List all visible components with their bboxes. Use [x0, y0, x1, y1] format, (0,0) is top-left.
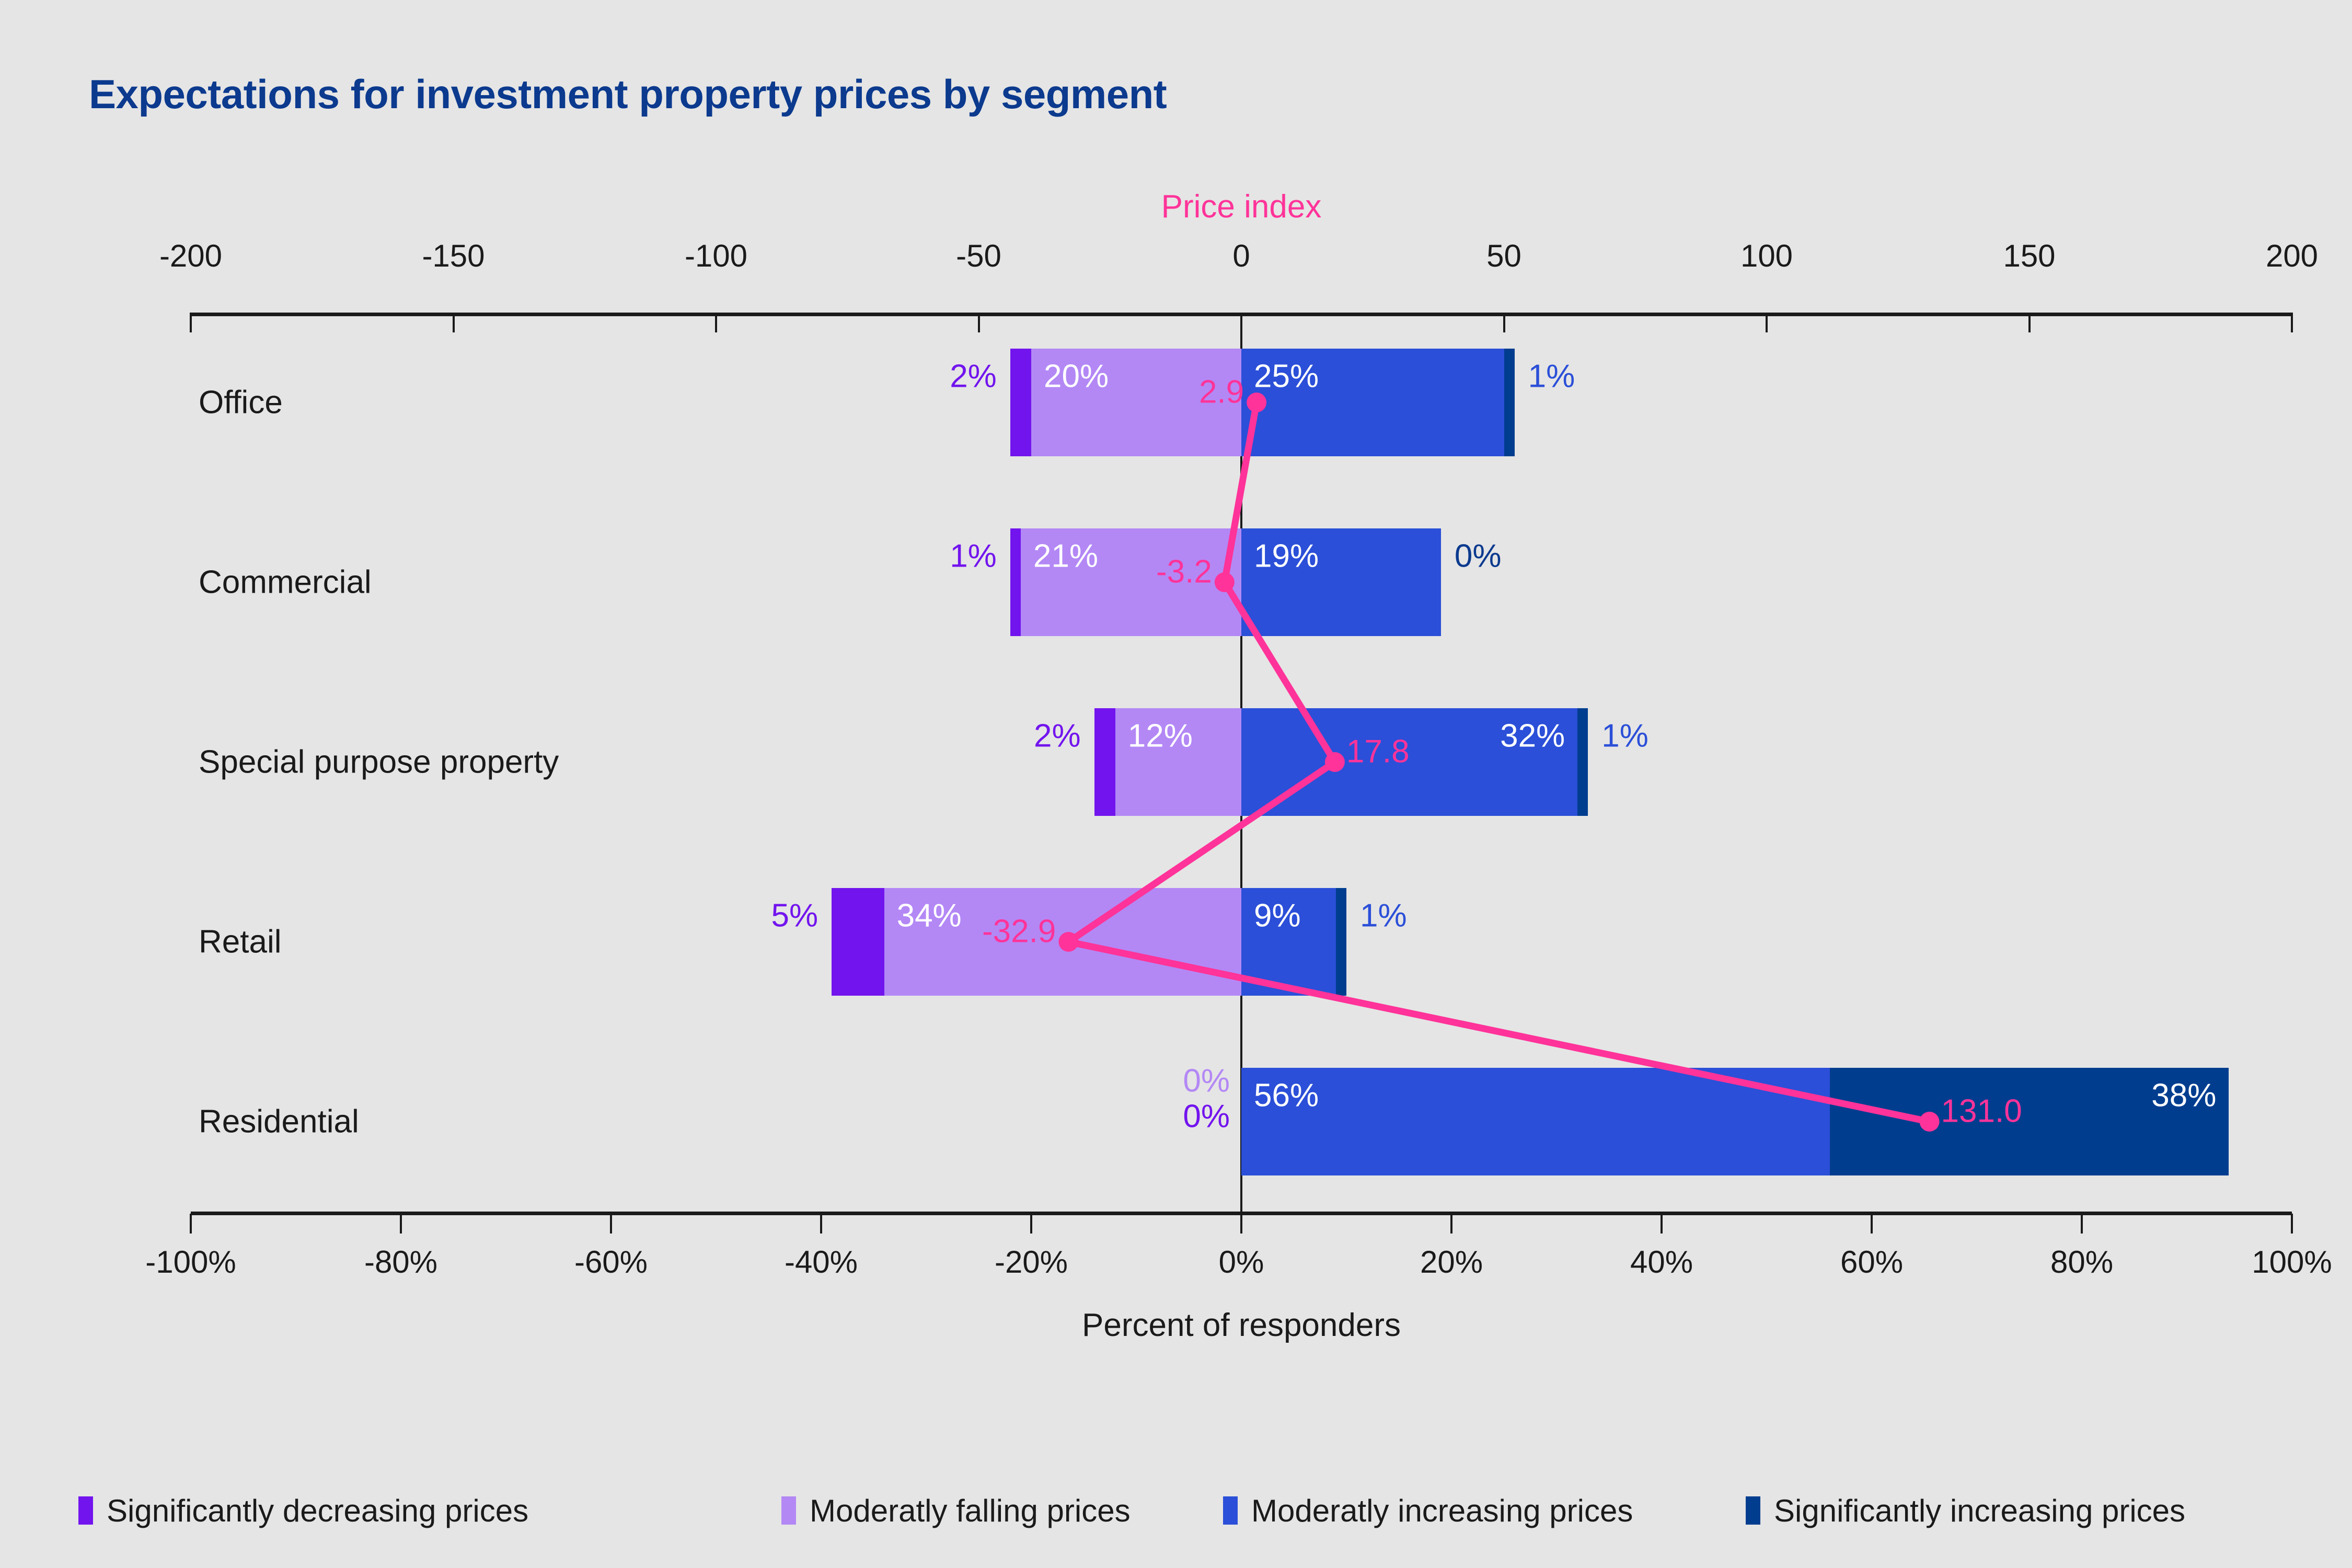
- axis-tick-label: 80%: [2050, 1244, 2113, 1280]
- axis-tick-label: -80%: [364, 1244, 437, 1280]
- bar-segment[interactable]: [1577, 708, 1588, 816]
- axis-tick: [820, 1214, 822, 1233]
- segment-label-significantly-increasing: 1%: [1360, 897, 1407, 935]
- axis-tick-label: -100: [685, 238, 747, 274]
- legend-item[interactable]: Significantly increasing prices: [1746, 1492, 2185, 1529]
- legend-swatch-icon: [1746, 1496, 1760, 1525]
- bar-segment[interactable]: [1241, 1068, 1830, 1175]
- legend-swatch-icon: [78, 1496, 93, 1525]
- category-label: Residential: [199, 1103, 359, 1140]
- axis-tick: [1661, 1214, 1663, 1233]
- category-label: Commercial: [199, 564, 372, 601]
- axis-tick: [190, 1214, 192, 1233]
- axis-tick: [610, 1214, 612, 1233]
- segment-label-moderately-falling: 21%: [1033, 538, 1098, 575]
- segment-label-moderately-falling: 34%: [897, 897, 962, 935]
- segment-label-significantly-decreasing: 5%: [771, 897, 818, 935]
- segment-label-moderately-increasing: 32%: [1500, 718, 1565, 755]
- axis-tick: [400, 1214, 402, 1233]
- segment-label-significantly-increasing: 0%: [1455, 538, 1502, 575]
- axis-tick-label: 150: [2003, 238, 2055, 274]
- segment-label-moderately-increasing: 25%: [1254, 358, 1319, 395]
- axis-tick: [1030, 1214, 1032, 1233]
- axis-tick-label: 100%: [2252, 1244, 2332, 1280]
- axis-tick-label: -50: [956, 238, 1001, 274]
- top-axis-title: Price index: [1161, 188, 1322, 225]
- axis-tick-label: 60%: [1840, 1244, 1903, 1280]
- bar-segment[interactable]: [1010, 528, 1021, 636]
- segment-label-significantly-decreasing: 0%: [1183, 1098, 1230, 1135]
- chart-canvas: Expectations for investment property pri…: [0, 0, 2352, 1568]
- axis-tick: [2081, 1214, 2083, 1233]
- chart-legend: Significantly decreasing pricesModeratly…: [78, 1492, 2274, 1529]
- segment-label-moderately-falling: 20%: [1044, 358, 1109, 395]
- legend-item[interactable]: Moderatly falling prices: [781, 1492, 1131, 1529]
- bar-segment[interactable]: [1094, 708, 1115, 816]
- axis-tick-label: -40%: [785, 1244, 858, 1280]
- segment-label-moderately-falling: 0%: [1183, 1063, 1230, 1100]
- axis-tick-label: 100: [1740, 238, 1793, 274]
- axis-tick: [1240, 1214, 1242, 1233]
- axis-tick: [978, 313, 980, 332]
- axis-tick-label: -100%: [145, 1244, 236, 1280]
- segment-label-significantly-decreasing: 1%: [950, 538, 997, 575]
- price-index-value-label: -3.2: [1156, 554, 1212, 591]
- price-index-value-label: 131.0: [1941, 1093, 2022, 1130]
- segment-label-significantly-decreasing: 2%: [950, 358, 997, 395]
- axis-tick: [453, 313, 455, 332]
- legend-label: Significantly decreasing prices: [107, 1493, 528, 1529]
- axis-tick: [1871, 1214, 1873, 1233]
- axis-tick-label: -60%: [574, 1244, 648, 1280]
- segment-label-moderately-increasing: 19%: [1254, 538, 1319, 575]
- price-index-value-label: 2.9: [1199, 374, 1244, 411]
- legend-label: Moderatly falling prices: [810, 1493, 1131, 1529]
- category-label: Office: [199, 384, 283, 421]
- price-index-value-label: -32.9: [982, 913, 1056, 950]
- axis-tick: [715, 313, 717, 332]
- category-label: Special purpose property: [199, 744, 559, 781]
- bar-segment[interactable]: [1504, 349, 1515, 456]
- axis-tick-label: -200: [159, 238, 222, 274]
- legend-swatch-icon: [1223, 1496, 1238, 1525]
- legend-label: Moderatly increasing prices: [1251, 1493, 1633, 1529]
- axis-tick: [1766, 313, 1768, 332]
- legend-swatch-icon: [781, 1496, 796, 1525]
- segment-label-significantly-increasing: 38%: [2151, 1077, 2216, 1114]
- axis-tick: [1503, 313, 1505, 332]
- bar-segment[interactable]: [1010, 349, 1031, 456]
- axis-tick-label: 50: [1486, 238, 1521, 274]
- legend-item[interactable]: Moderatly increasing prices: [1223, 1492, 1633, 1529]
- segment-label-significantly-increasing: 1%: [1528, 358, 1575, 395]
- axis-tick: [2291, 313, 2293, 332]
- axis-tick-label: -20%: [995, 1244, 1068, 1280]
- category-label: Retail: [199, 924, 282, 961]
- axis-tick: [2028, 313, 2031, 332]
- legend-item[interactable]: Significantly decreasing prices: [78, 1492, 528, 1529]
- segment-label-significantly-decreasing: 2%: [1034, 718, 1081, 755]
- axis-tick-label: 200: [2266, 238, 2318, 274]
- segment-label-moderately-increasing: 56%: [1254, 1077, 1319, 1114]
- axis-tick-label: 0: [1232, 238, 1250, 274]
- legend-label: Significantly increasing prices: [1774, 1493, 2185, 1529]
- axis-tick-label: 40%: [1630, 1244, 1693, 1280]
- segment-label-moderately-falling: 12%: [1128, 718, 1193, 755]
- axis-tick-label: -150: [422, 238, 485, 274]
- chart-title: Expectations for investment property pri…: [89, 71, 1167, 118]
- axis-tick: [1240, 313, 1242, 332]
- bar-segment[interactable]: [832, 888, 884, 996]
- segment-label-moderately-increasing: 9%: [1254, 897, 1301, 935]
- segment-label-significantly-increasing: 1%: [1601, 718, 1648, 755]
- bar-segment[interactable]: [1336, 888, 1346, 996]
- axis-tick-label: 0%: [1219, 1244, 1264, 1280]
- axis-tick: [190, 313, 192, 332]
- price-index-value-label: 17.8: [1346, 733, 1410, 770]
- axis-tick: [2291, 1214, 2293, 1233]
- bottom-axis-title: Percent of responders: [1082, 1307, 1401, 1344]
- axis-tick: [1450, 1214, 1452, 1233]
- axis-tick-label: 20%: [1420, 1244, 1483, 1280]
